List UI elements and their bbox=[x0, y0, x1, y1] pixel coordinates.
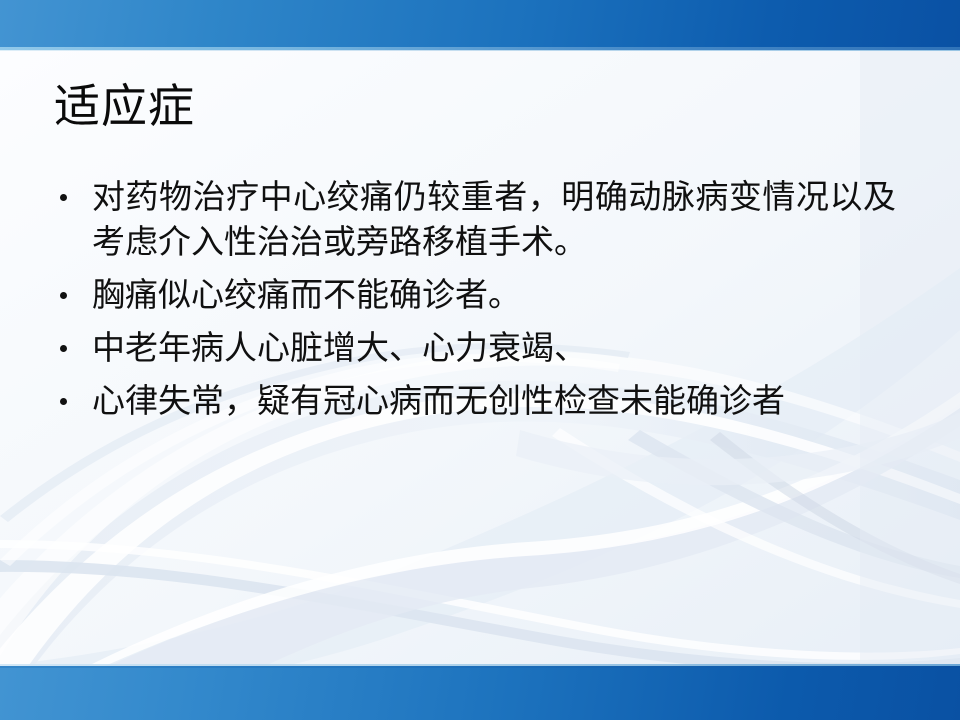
bullet-item: 中老年病人心脏增大、心力衰竭、 bbox=[48, 327, 896, 372]
slide-body-list: 对药物治疗中心绞痛仍较重者，明确动脉病变情况以及考虑介入性治治或旁路移植手术。 … bbox=[48, 176, 896, 425]
bullet-dot-icon bbox=[60, 345, 67, 352]
bottom-accent-bar bbox=[0, 666, 960, 720]
slide-canvas: 适应症 对药物治疗中心绞痛仍较重者，明确动脉病变情况以及考虑介入性治治或旁路移植… bbox=[0, 0, 960, 720]
bullet-item: 心律失常，疑有冠心病而无创性检查未能确诊者 bbox=[48, 380, 896, 425]
bullet-item: 胸痛似心绞痛而不能确诊者。 bbox=[48, 274, 896, 319]
bullet-text: 对药物治疗中心绞痛仍较重者，明确动脉病变情况以及考虑介入性治治或旁路移植手术。 bbox=[92, 176, 896, 266]
top-accent-hairline bbox=[0, 50, 960, 51]
bullet-text: 心律失常，疑有冠心病而无创性检查未能确诊者 bbox=[92, 380, 896, 425]
bullet-dot-icon bbox=[60, 194, 67, 201]
bullet-dot-icon bbox=[60, 292, 67, 299]
bullet-text: 中老年病人心脏增大、心力衰竭、 bbox=[92, 327, 896, 372]
bottom-accent-bar-edge bbox=[0, 666, 960, 668]
bullet-dot-icon bbox=[60, 398, 67, 405]
top-accent-bar bbox=[0, 0, 960, 47]
slide-title: 适应症 bbox=[54, 78, 195, 134]
bullet-text: 胸痛似心绞痛而不能确诊者。 bbox=[92, 274, 896, 319]
bullet-item: 对药物治疗中心绞痛仍较重者，明确动脉病变情况以及考虑介入性治治或旁路移植手术。 bbox=[48, 176, 896, 266]
